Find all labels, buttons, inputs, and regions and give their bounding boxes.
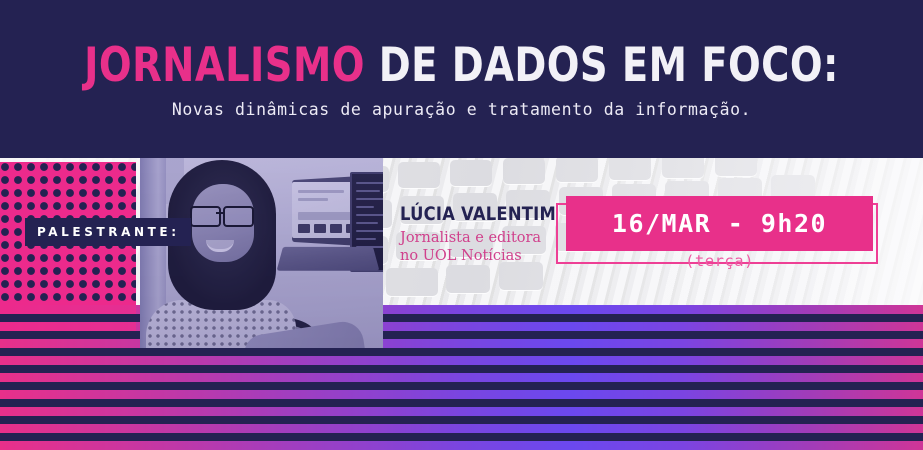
date-badge-text: 16/MAR - 9h20 — [612, 209, 827, 238]
weekday-label: (terça) — [566, 252, 873, 270]
title-accent-word: JORNALISMO — [84, 38, 365, 93]
event-poster: JORNALISMO DE DADOS EM FOCO: Novas dinâm… — [0, 0, 923, 450]
page-title: JORNALISMO DE DADOS EM FOCO: — [83, 40, 840, 92]
bottom-stripe-pattern — [0, 305, 923, 450]
poster-header: JORNALISMO DE DADOS EM FOCO: Novas dinâm… — [0, 0, 923, 158]
speaker-role-line-1: Jornalista e editora — [400, 230, 541, 246]
title-remainder: DE DADOS EM FOCO: — [379, 38, 839, 93]
speaker-role: Jornalista e editorano UOL Notícias — [400, 229, 541, 265]
bottom-stripe-pink-segment — [0, 305, 136, 331]
speaker-name: LÚCIA VALENTIM — [400, 203, 556, 225]
speaker-label: PALESTRANTE: — [25, 225, 180, 239]
speaker-role-line-2: no UOL Notícias — [400, 248, 522, 264]
poster-subtitle: Novas dinâmicas de apuração e tratamento… — [0, 100, 923, 119]
date-badge: 16/MAR - 9h20 — [566, 196, 873, 251]
speaker-label-band: PALESTRANTE: — [25, 218, 191, 246]
